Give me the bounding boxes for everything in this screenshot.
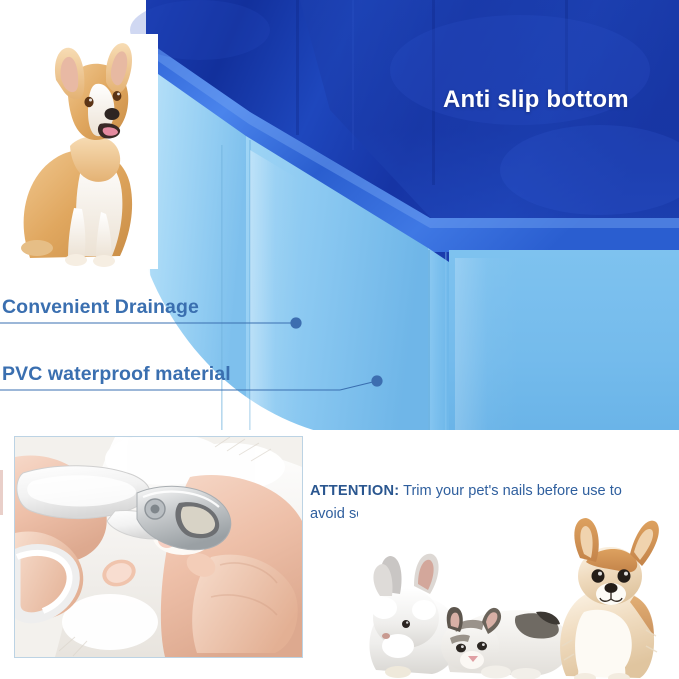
left-edge-accent bbox=[0, 470, 3, 515]
anti-slip-bottom-label: Anti slip bottom bbox=[443, 86, 629, 114]
nail-clipper-illustration bbox=[15, 437, 302, 657]
pets-group-photo bbox=[358, 500, 676, 679]
nail-clipper-photo bbox=[14, 436, 303, 658]
pets-group-illustration bbox=[358, 500, 676, 679]
corgi-illustration bbox=[8, 34, 158, 269]
attention-prefix: ATTENTION: bbox=[310, 483, 399, 499]
cat bbox=[441, 607, 569, 679]
leader-line-drainage bbox=[0, 286, 320, 336]
leader-line-pvc bbox=[0, 352, 400, 402]
infographic-canvas: Anti slip bottom bbox=[0, 0, 679, 679]
corgi-photo bbox=[8, 34, 158, 269]
